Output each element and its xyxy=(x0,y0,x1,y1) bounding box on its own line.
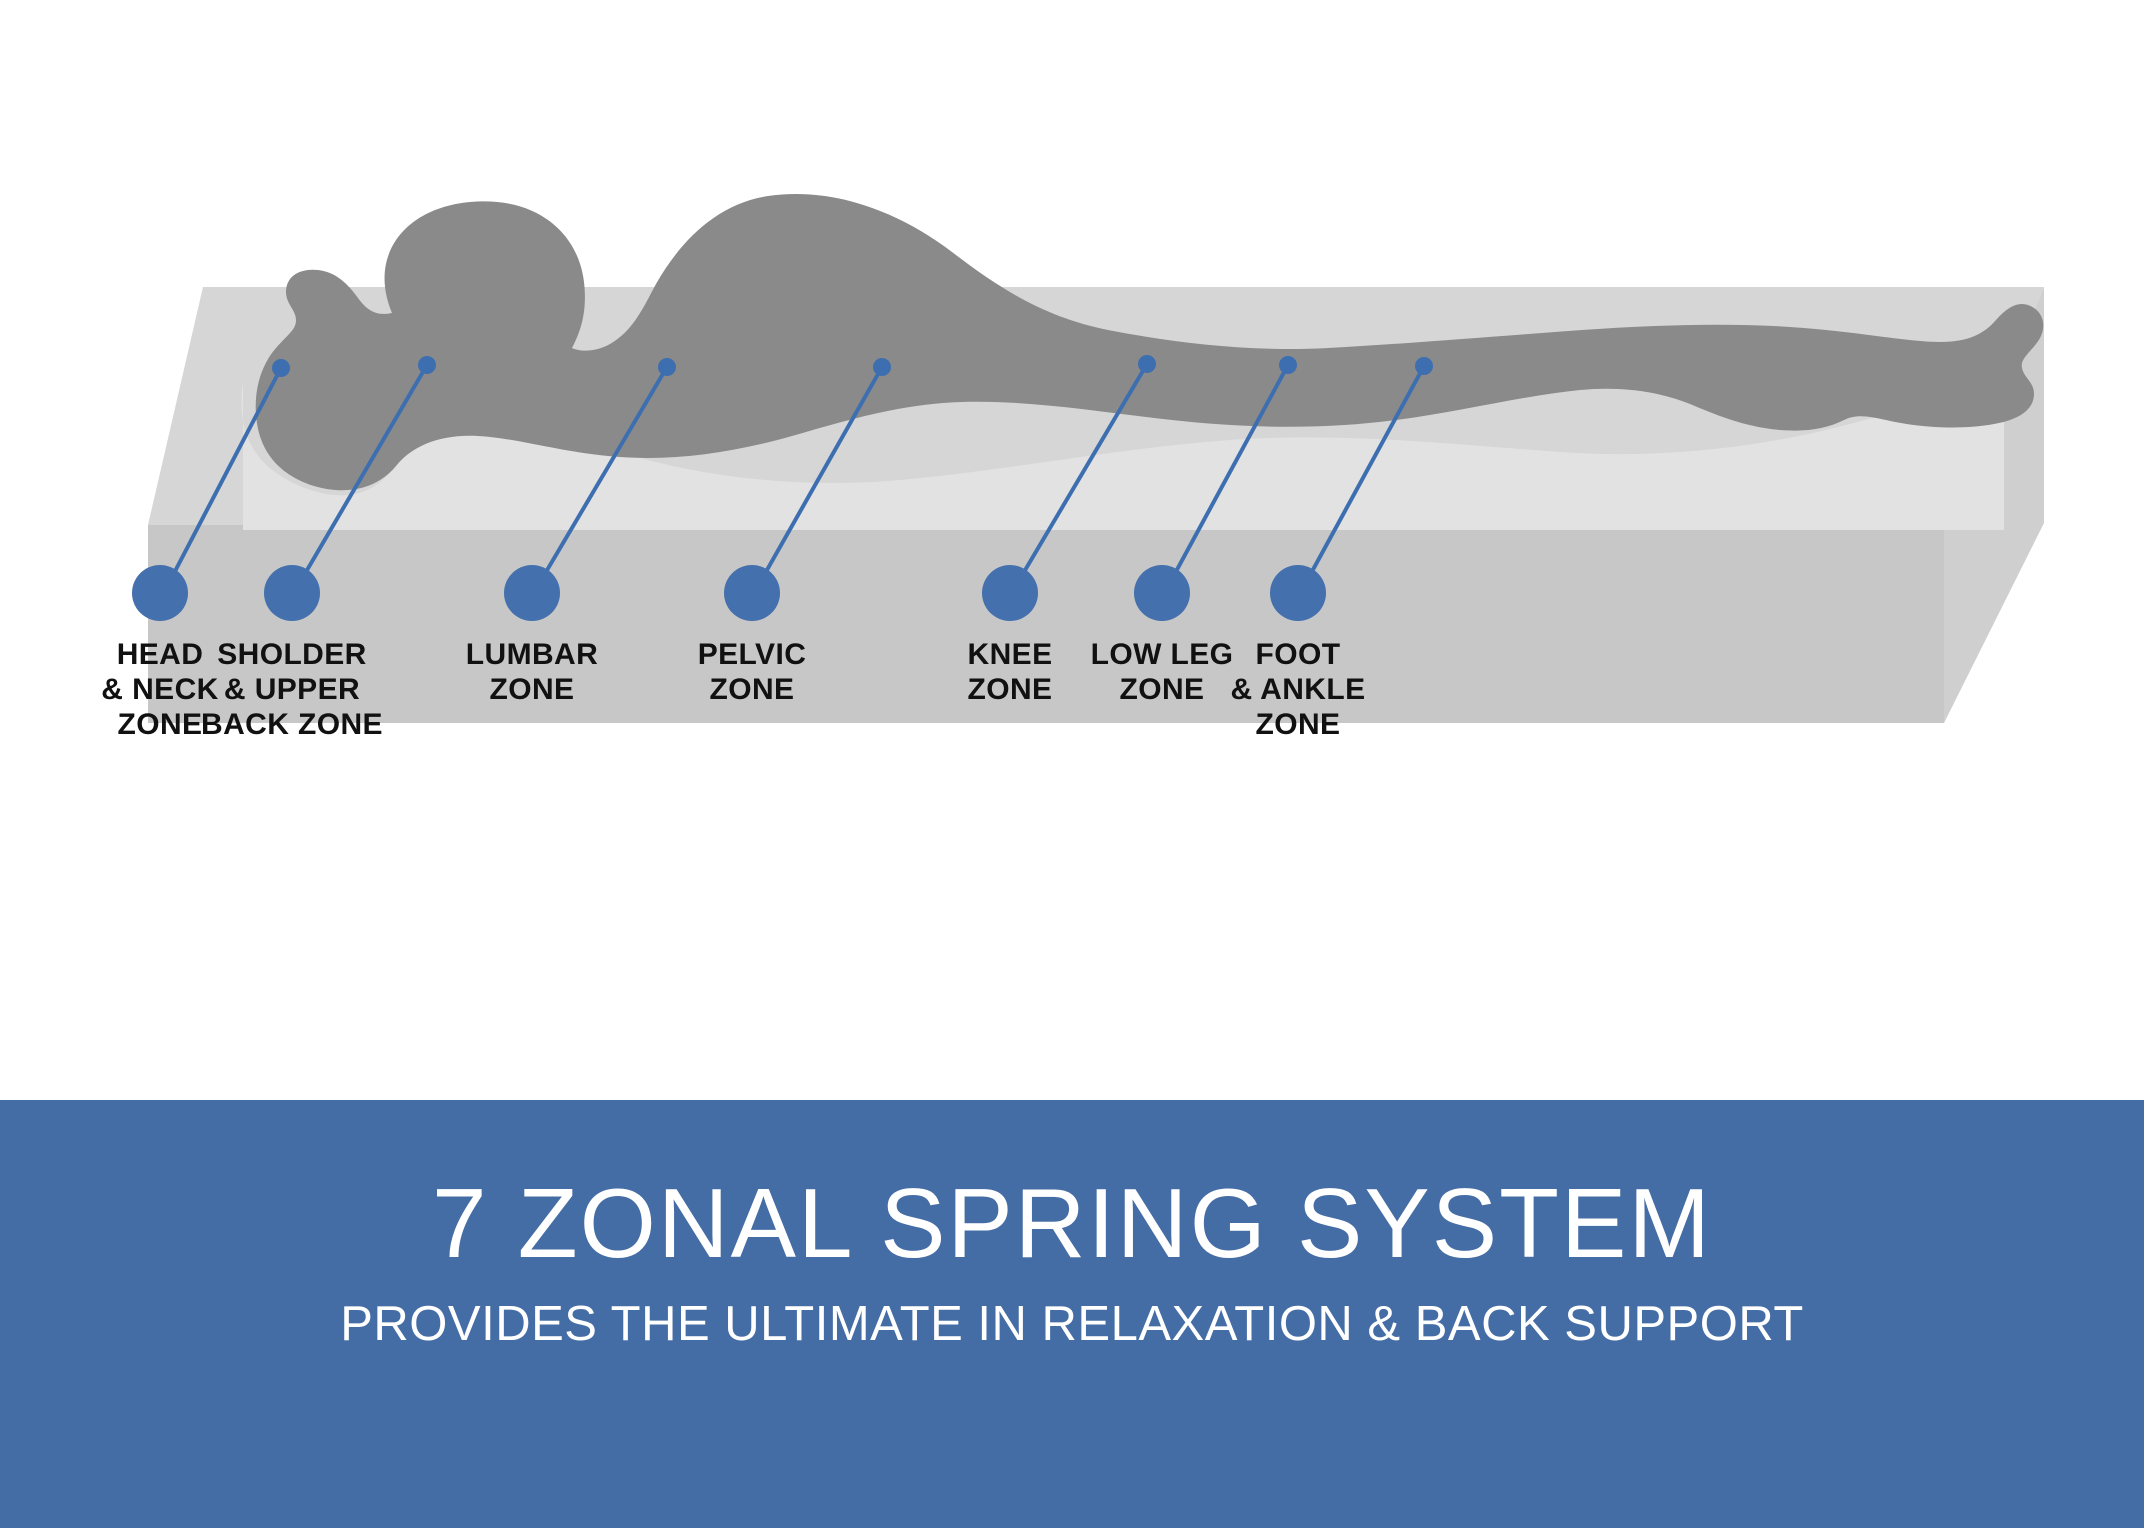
zone-label-knee: KNEE ZONE xyxy=(968,637,1053,707)
zone-dot-shoulder-upper-back[interactable] xyxy=(264,565,320,621)
zone-label-foot-ankle: FOOT & ANKLE ZONE xyxy=(1230,637,1365,742)
zone-dot-knee[interactable] xyxy=(982,565,1038,621)
leader-anchor-knee xyxy=(1138,355,1156,373)
banner-title: 7 ZONAL SPRING SYSTEM xyxy=(0,1174,2144,1272)
leader-anchor-pelvic xyxy=(873,358,891,376)
zone-dot-low-leg[interactable] xyxy=(1134,565,1190,621)
zone-label-pelvic: PELVIC ZONE xyxy=(698,637,807,707)
zone-dot-foot-ankle[interactable] xyxy=(1270,565,1326,621)
leader-anchor-shoulder-upper-back xyxy=(418,356,436,374)
leader-anchor-low-leg xyxy=(1279,356,1297,374)
zone-dot-head-neck[interactable] xyxy=(132,565,188,621)
bottom-banner: 7 ZONAL SPRING SYSTEM PROVIDES THE ULTIM… xyxy=(0,1100,2144,1528)
infographic-page: HEAD & NECK ZONE SHOLDER & UPPER BACK ZO… xyxy=(0,0,2144,1528)
zone-label-shoulder-upper-back: SHOLDER & UPPER BACK ZONE xyxy=(201,637,383,742)
zone-dot-lumbar[interactable] xyxy=(504,565,560,621)
diagram-area: HEAD & NECK ZONE SHOLDER & UPPER BACK ZO… xyxy=(0,0,2144,1100)
mattress-zone-illustration xyxy=(0,0,2144,1100)
banner-subtitle: PROVIDES THE ULTIMATE IN RELAXATION & BA… xyxy=(0,1300,2144,1349)
leader-anchor-head-neck xyxy=(272,359,290,377)
zone-label-lumbar: LUMBAR ZONE xyxy=(466,637,598,707)
leader-anchor-lumbar xyxy=(658,358,676,376)
leader-anchor-foot-ankle xyxy=(1415,357,1433,375)
zone-label-low-leg: LOW LEG ZONE xyxy=(1091,637,1234,707)
zone-dot-pelvic[interactable] xyxy=(724,565,780,621)
